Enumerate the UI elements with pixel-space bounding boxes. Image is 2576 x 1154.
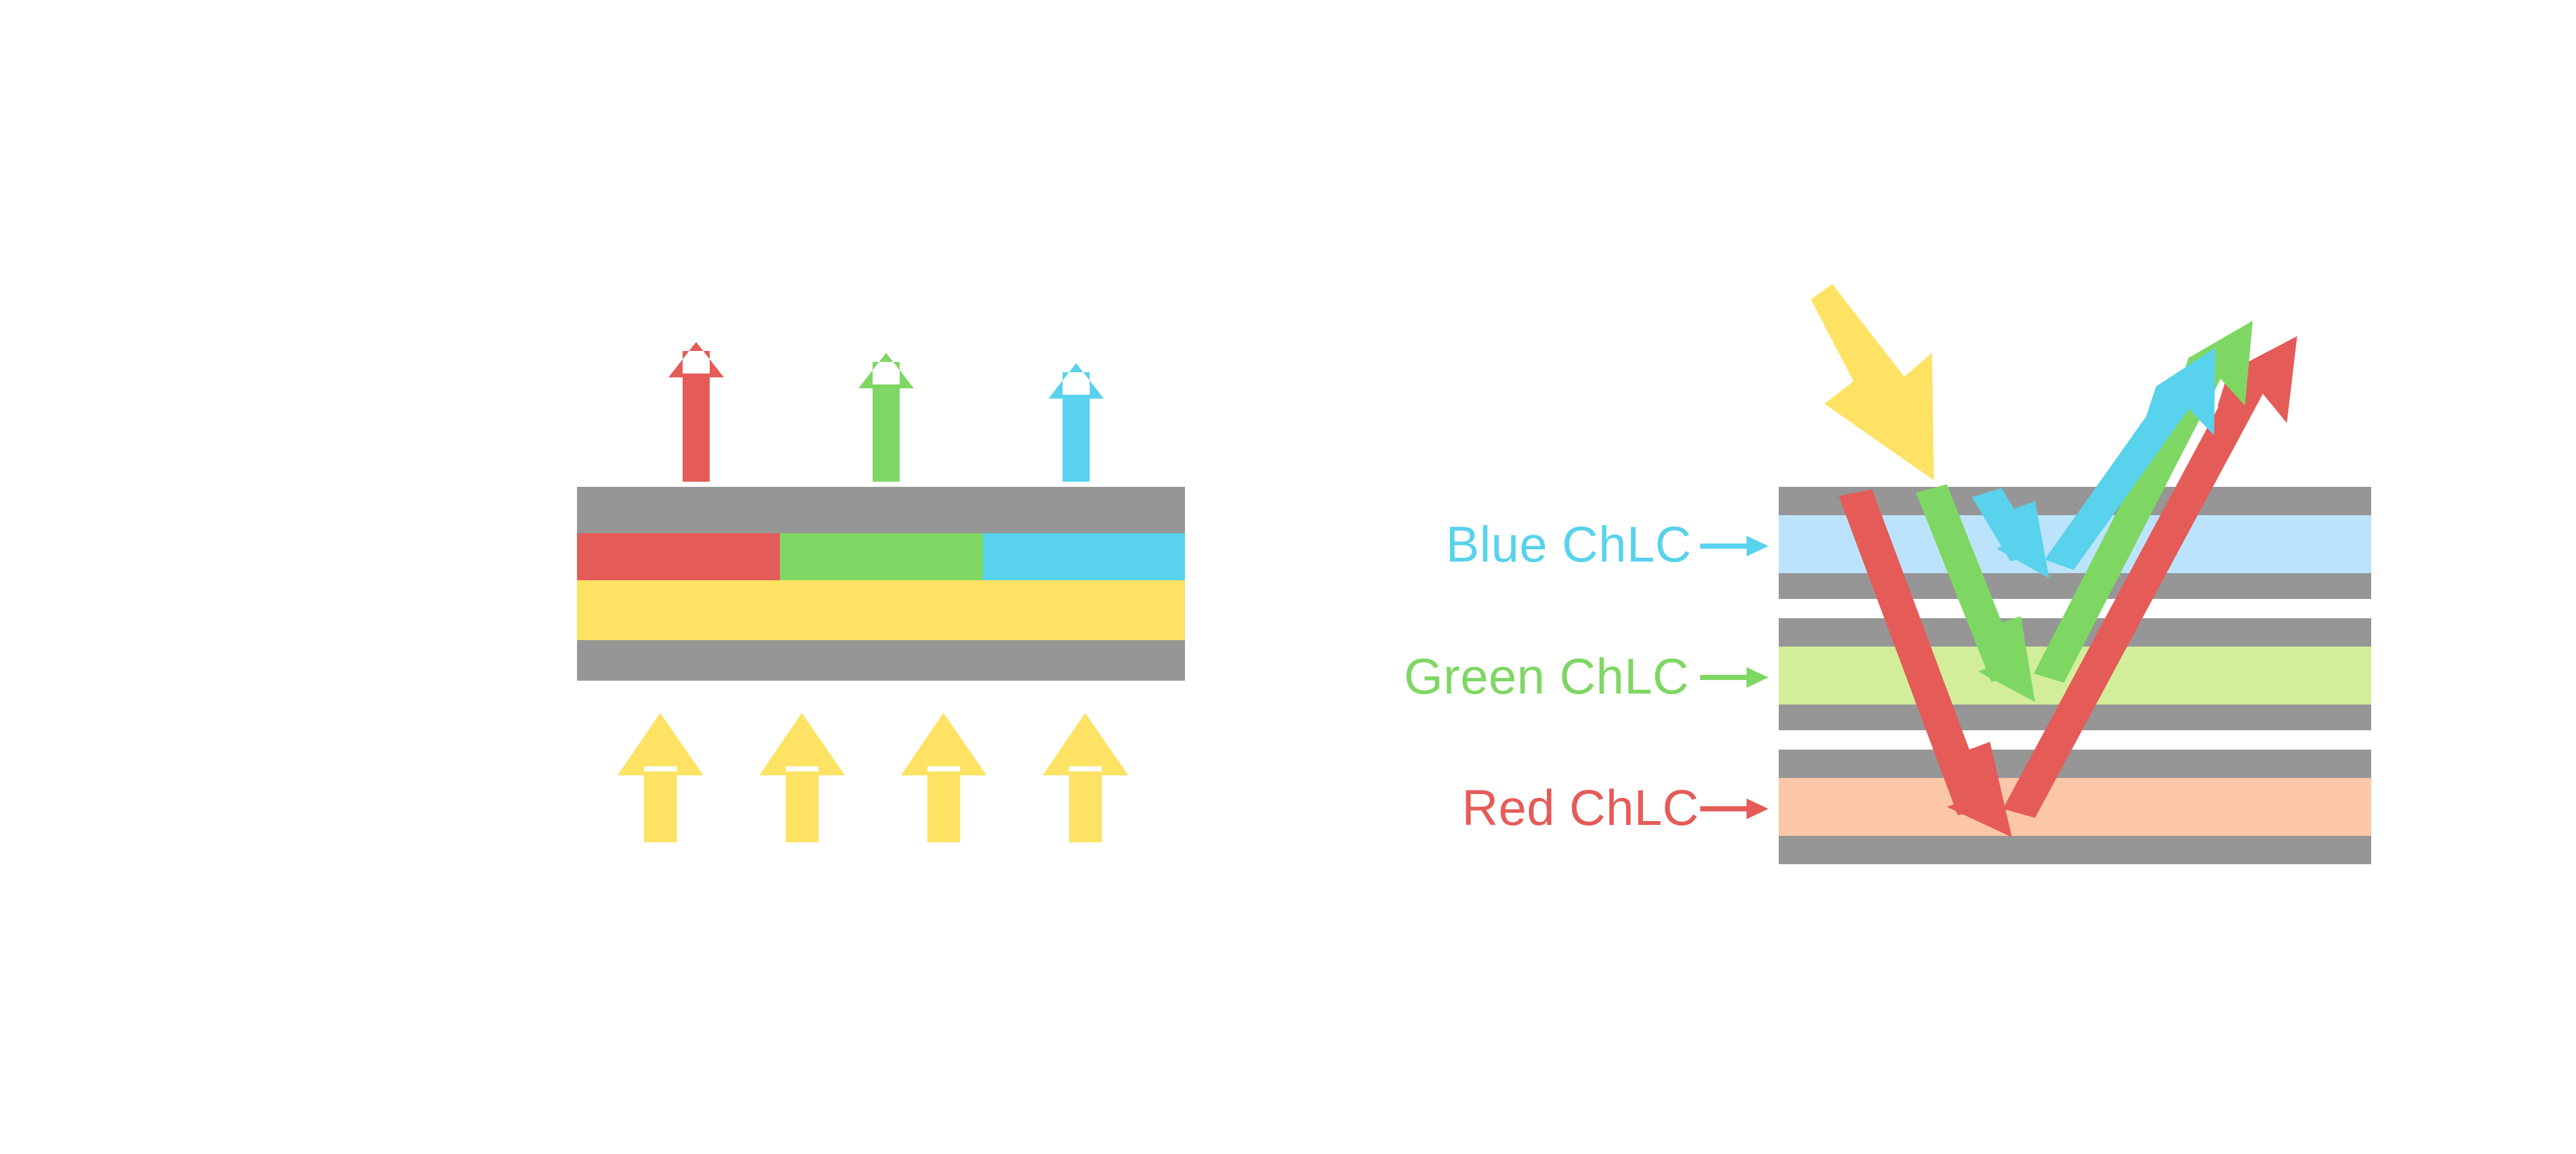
blue-label-pointer-arrowhead <box>1747 536 1768 556</box>
red-bottom-electrode <box>1779 836 2371 864</box>
blue-filter-segment <box>983 533 1185 580</box>
green-chlc-label-group: Green ChLC <box>1404 648 1768 705</box>
diagram-canvas: Blue ChLC Green ChLC Red ChLC <box>0 0 2576 1154</box>
top-electrode-layer <box>577 487 1185 533</box>
green-chlc-label: Green ChLC <box>1404 648 1689 705</box>
blue-chlc-label-group: Blue ChLC <box>1446 516 1768 572</box>
backlight-arrow <box>901 713 987 842</box>
red-top-electrode <box>1779 750 2371 778</box>
green-label-pointer-arrowhead <box>1747 667 1768 688</box>
right-panel-group: Blue ChLC Green ChLC Red ChLC <box>1404 284 2371 864</box>
blue-emission-arrow <box>1048 363 1104 482</box>
green-emission-arrow <box>858 353 914 482</box>
red-chlc-layer <box>1779 778 2371 836</box>
red-label-pointer-arrowhead <box>1747 799 1768 819</box>
red-emission-arrow <box>668 342 724 482</box>
red-chlc-label: Red ChLC <box>1462 779 1699 836</box>
chlc-stack-diagram: Blue ChLC Green ChLC Red ChLC <box>0 0 2576 1154</box>
backlight-arrow <box>759 713 845 842</box>
bottom-electrode-layer <box>577 640 1185 681</box>
blue-chlc-label: Blue ChLC <box>1446 516 1692 572</box>
backlight-layer <box>577 580 1185 640</box>
ambient-light-arrow <box>1811 284 1934 480</box>
green-filter-segment <box>780 533 983 580</box>
left-panel-group <box>577 342 1185 842</box>
red-chlc-label-group: Red ChLC <box>1462 779 1768 836</box>
red-filter-segment <box>577 533 780 580</box>
backlight-arrow <box>1043 713 1128 842</box>
backlight-arrow <box>618 713 703 842</box>
